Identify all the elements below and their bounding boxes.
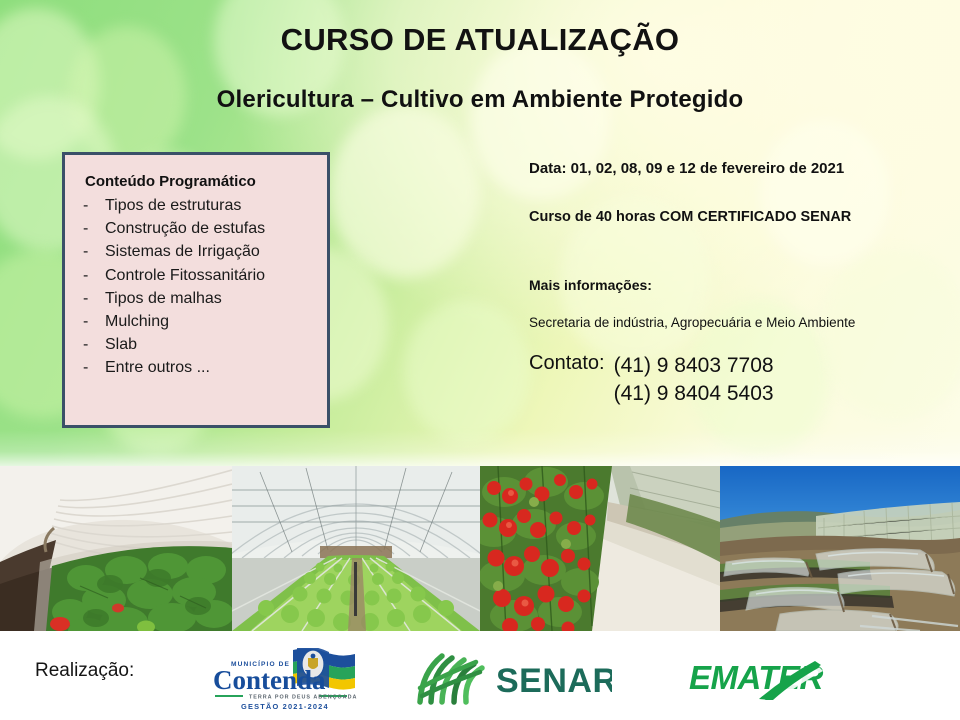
bullet-dash: -	[81, 287, 105, 310]
page-subtitle: Olericultura – Cultivo em Ambiente Prote…	[0, 86, 960, 114]
contenda-term: GESTÃO 2021-2024	[241, 702, 329, 711]
photo-strip	[0, 466, 960, 631]
bullet-dash: -	[81, 217, 105, 240]
list-item: -Mulching	[81, 310, 315, 333]
contact-block: Contato: (41) 9 8403 7708 (41) 9 8404 54…	[529, 352, 949, 408]
page-title: CURSO DE ATUALIZAÇÃO	[0, 22, 960, 58]
photo-strawberries-under-plastic-tunnel	[0, 466, 232, 631]
list-item: -Slab	[81, 333, 315, 356]
phone-number: (41) 9 8403 7708	[614, 352, 774, 380]
secretariat-name: Secretaria de indústria, Agropecuária e …	[529, 315, 949, 330]
bullet-dash: -	[81, 194, 105, 217]
topic-label: Construção de estufas	[105, 217, 265, 240]
photo-low-tunnels-field-under-blue-sky	[720, 466, 960, 631]
course-date: Data: 01, 02, 08, 09 e 12 de fevereiro d…	[529, 160, 949, 177]
topic-label: Entre outros ...	[105, 356, 210, 379]
contenda-logo: MUNICÍPIO DE Contenda TERRA POR DEUS ABE…	[205, 648, 357, 712]
list-item: -Controle Fitossanitário	[81, 264, 315, 287]
photo-tomato-plants-in-greenhouse-row	[480, 466, 720, 631]
course-hours: Curso de 40 horas COM CERTIFICADO SENAR	[529, 209, 949, 225]
bullet-dash: -	[81, 264, 105, 287]
senar-logo: SENAR	[412, 652, 612, 706]
topic-label: Controle Fitossanitário	[105, 264, 265, 287]
list-item: -Tipos de estruturas	[81, 194, 315, 217]
bullet-dash: -	[81, 310, 105, 333]
senar-wordmark: SENAR	[496, 662, 612, 700]
senar-grass-icon	[420, 656, 482, 702]
bokeh-circle	[330, 106, 480, 278]
contenda-tagline: TERRA POR DEUS ABENÇOADA	[249, 695, 357, 701]
list-item: -Construção de estufas	[81, 217, 315, 240]
topic-label: Sistemas de Irrigação	[105, 240, 260, 263]
contenda-wordmark: Contenda	[213, 665, 326, 695]
course-details: Data: 01, 02, 08, 09 e 12 de fevereiro d…	[529, 160, 949, 408]
poster-root: CURSO DE ATUALIZAÇÃO Olericultura – Cult…	[0, 0, 960, 720]
emater-logo: EMATER	[687, 655, 865, 701]
topic-label: Mulching	[105, 310, 169, 333]
topic-label: Tipos de estruturas	[105, 194, 241, 217]
phone-number: (41) 9 8404 5403	[614, 380, 774, 408]
bullet-dash: -	[81, 240, 105, 263]
list-item: -Tipos de malhas	[81, 287, 315, 310]
list-item: -Entre outros ...	[81, 356, 315, 379]
bullet-dash: -	[81, 333, 105, 356]
background-bottom-fade	[0, 430, 960, 466]
content-topic-list: -Tipos de estruturas -Construção de estu…	[81, 194, 315, 380]
bullet-dash: -	[81, 356, 105, 379]
content-box-heading: Conteúdo Programático	[85, 173, 315, 190]
course-content-box: Conteúdo Programático -Tipos de estrutur…	[62, 152, 330, 428]
phone-list: (41) 9 8403 7708 (41) 9 8404 5403	[614, 352, 774, 408]
photo-lettuce-rows-inside-greenhouse	[232, 466, 480, 631]
contact-label: Contato:	[529, 352, 605, 375]
more-info-label: Mais informações:	[529, 277, 949, 293]
topic-label: Tipos de malhas	[105, 287, 222, 310]
realization-label: Realização:	[35, 660, 134, 682]
list-item: -Sistemas de Irrigação	[81, 240, 315, 263]
bokeh-circle	[404, 300, 530, 442]
topic-label: Slab	[105, 333, 137, 356]
